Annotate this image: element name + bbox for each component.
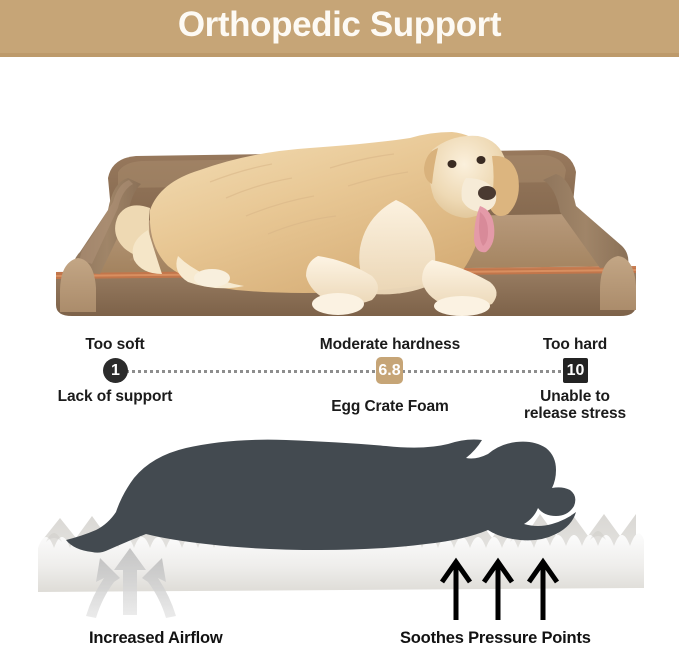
dog-rear-paw: [194, 269, 230, 287]
dog-bed-photo-illustration: [0, 60, 679, 318]
scale-bottom-label-unable-to-release-stress: Unable to release stress: [495, 388, 655, 422]
label-soothes-pressure-points: Soothes Pressure Points: [400, 629, 591, 648]
product-photo: [0, 60, 679, 318]
dog-front-paw-left: [312, 293, 364, 315]
scale-dotted-line: [113, 370, 575, 373]
pressure-point-arrows: [442, 562, 557, 620]
scale-bottom-label-egg-crate-foam: Egg Crate Foam: [290, 398, 490, 415]
page-title: Orthopedic Support: [0, 0, 679, 53]
label-increased-airflow: Increased Airflow: [89, 629, 223, 648]
foam-diagram-labels: Increased Airflow Soothes Pressure Point…: [0, 627, 679, 654]
scale-marker-1[interactable]: 1: [103, 358, 128, 383]
foam-airflow-diagram: [0, 430, 679, 620]
unable-to-release-stress-line-2: release stress: [524, 405, 626, 422]
header-banner-underline: [0, 53, 679, 57]
scale-marker-6-8[interactable]: 6.8: [376, 357, 403, 384]
scale-top-label-too-hard: Too hard: [495, 336, 655, 354]
scale-bottom-label-lack-of-support: Lack of support: [15, 388, 215, 405]
orthopedic-support-infographic: Orthopedic Support: [0, 0, 679, 654]
unable-to-release-stress-line-1: Unable to: [540, 388, 610, 405]
hardness-scale: Too soft 1 Lack of support Moderate hard…: [0, 326, 679, 426]
scale-top-label-too-soft: Too soft: [48, 336, 182, 354]
scale-marker-10[interactable]: 10: [563, 358, 588, 383]
egg-crate-foam-illustration: [0, 430, 679, 620]
scale-top-label-moderate-hardness: Moderate hardness: [290, 336, 490, 354]
dog-front-paw-right: [434, 296, 490, 316]
